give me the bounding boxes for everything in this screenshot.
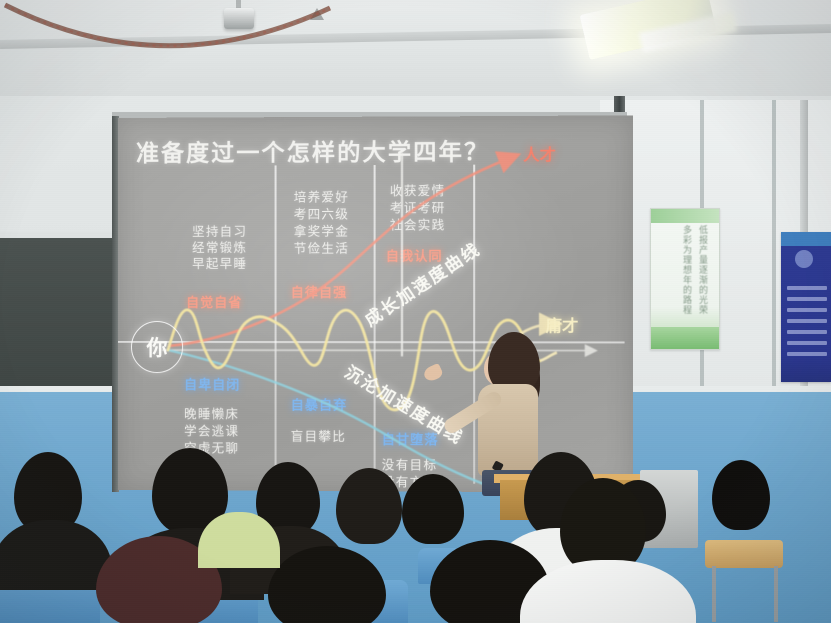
audience-head xyxy=(402,474,464,544)
wooden-chair-back xyxy=(705,540,783,568)
blackboard xyxy=(0,238,122,398)
poster-green: 低报产量逐渐的光荣 多彩为理想年的路程 xyxy=(650,208,720,350)
classroom-scene: 低报产量逐渐的光荣 多彩为理想年的路程 准备度过一个怎样的大学四年？ 坚持自习 … xyxy=(0,0,831,623)
projection-screen[interactable]: 准备度过一个怎样的大学四年？ 坚持自习 经常锻炼 早起早睡 自觉自省 自卑自闭 … xyxy=(118,115,633,492)
poster-blue-emblem-icon xyxy=(795,250,813,268)
poster-blue-text-lines xyxy=(787,286,827,363)
wooden-chair-leg xyxy=(712,566,716,622)
decorative-garland xyxy=(0,0,330,65)
endpoint-label-top: 人才 xyxy=(523,141,556,165)
wooden-chair-leg xyxy=(774,566,778,622)
poster-blue xyxy=(781,232,831,382)
wall-seam xyxy=(772,100,776,400)
poster-green-text: 低报产量逐渐的光荣 多彩为理想年的路程 xyxy=(679,225,711,325)
presenter xyxy=(448,332,544,492)
endpoint-label-middle: 庸才 xyxy=(546,312,579,336)
audience-head xyxy=(712,460,770,530)
poster-green-footer xyxy=(651,327,719,349)
audience-head xyxy=(336,468,402,544)
you-marker: 你 xyxy=(131,321,183,373)
poster-green-header xyxy=(651,209,719,223)
